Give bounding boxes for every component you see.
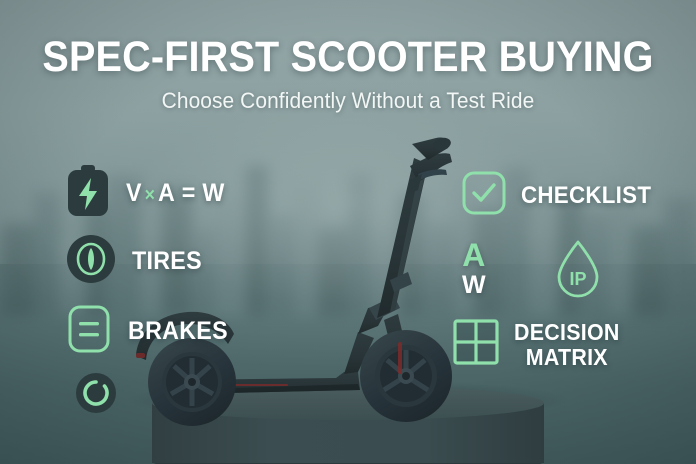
feature-brakes-label: BRAKES — [128, 317, 228, 346]
page-subtitle: Choose Confidently Without a Test Ride — [17, 88, 678, 114]
water-droplet-icon: IP — [552, 238, 604, 305]
formula-watts: W — [202, 179, 224, 207]
amp-label: A — [462, 240, 485, 271]
power-cycle-icon — [75, 372, 117, 419]
feature-checklist-label: CHECKLIST — [521, 182, 651, 210]
watt-label: W — [462, 273, 486, 297]
feature-checklist[interactable]: CHECKLIST — [461, 170, 661, 221]
feature-tires[interactable]: TIRES — [66, 234, 207, 289]
amp-watt-stack: A W — [462, 240, 486, 297]
feature-brakes[interactable]: BRAKES — [66, 304, 235, 359]
matrix-label-line2: MATRIX — [514, 345, 620, 369]
poster-canvas: SPEC-FIRST SCOOTER BUYING Choose Confide… — [0, 0, 696, 464]
feature-amp-watt[interactable]: A W — [462, 240, 486, 297]
tire-circle-icon — [66, 234, 116, 289]
checkbox-check-icon — [461, 170, 507, 221]
page-title: SPEC-FIRST SCOOTER BUYING — [28, 36, 668, 79]
feature-matrix-label: DECISION MATRIX — [514, 320, 620, 369]
feature-ingress-protection[interactable]: IP — [552, 238, 604, 305]
formula-amps: A — [158, 179, 175, 207]
feature-decision-matrix[interactable]: DECISION MATRIX — [452, 318, 628, 371]
battery-bolt-icon — [66, 165, 110, 222]
ip-text: IP — [569, 269, 586, 289]
grid-2x2-icon — [452, 318, 500, 371]
formula-equals: = — [182, 179, 196, 207]
formula-volts: V — [126, 179, 142, 207]
formula-times: × — [142, 185, 158, 206]
feature-power-label: V×A = W — [126, 179, 225, 208]
headline-block: SPEC-FIRST SCOOTER BUYING Choose Confide… — [0, 36, 696, 114]
matrix-label-line1: DECISION — [514, 320, 620, 344]
feature-power-formula[interactable]: V×A = W — [66, 165, 232, 222]
feature-power-cycle[interactable] — [75, 372, 117, 419]
feature-tires-label: TIRES — [132, 247, 202, 276]
brake-document-icon — [66, 304, 112, 359]
